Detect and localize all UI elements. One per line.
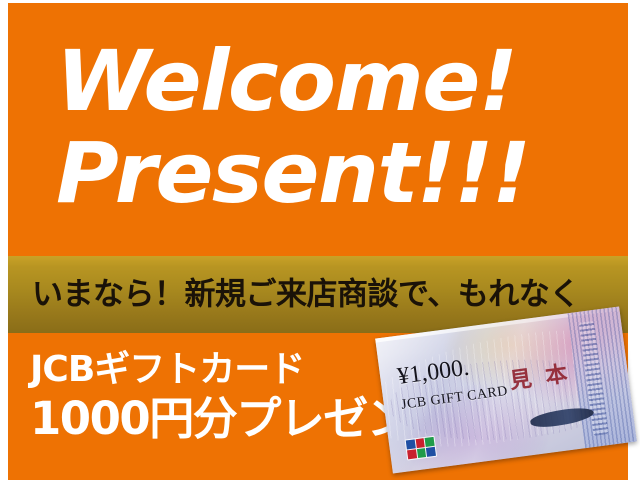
- gold-band-text: いまなら！新規ご来店商談で、もれなく: [32, 279, 580, 310]
- jcb-logo-block: [425, 437, 435, 447]
- jcb-logo-block: [415, 438, 425, 448]
- promo-banner: Welcome! Present!!! いまなら！新規ご来店商談で、もれなく J…: [0, 0, 640, 480]
- jcb-logo-icon: [405, 436, 437, 461]
- headline-line-present: Present!!!: [56, 131, 530, 215]
- jcb-logo-block: [417, 448, 427, 458]
- jcb-logo-block: [407, 449, 417, 459]
- headline-block: Welcome! Present!!!: [8, 3, 628, 256]
- headline-line-welcome: Welcome!: [56, 39, 516, 123]
- jcb-logo-block: [426, 447, 436, 457]
- jcb-logo-block: [406, 440, 416, 450]
